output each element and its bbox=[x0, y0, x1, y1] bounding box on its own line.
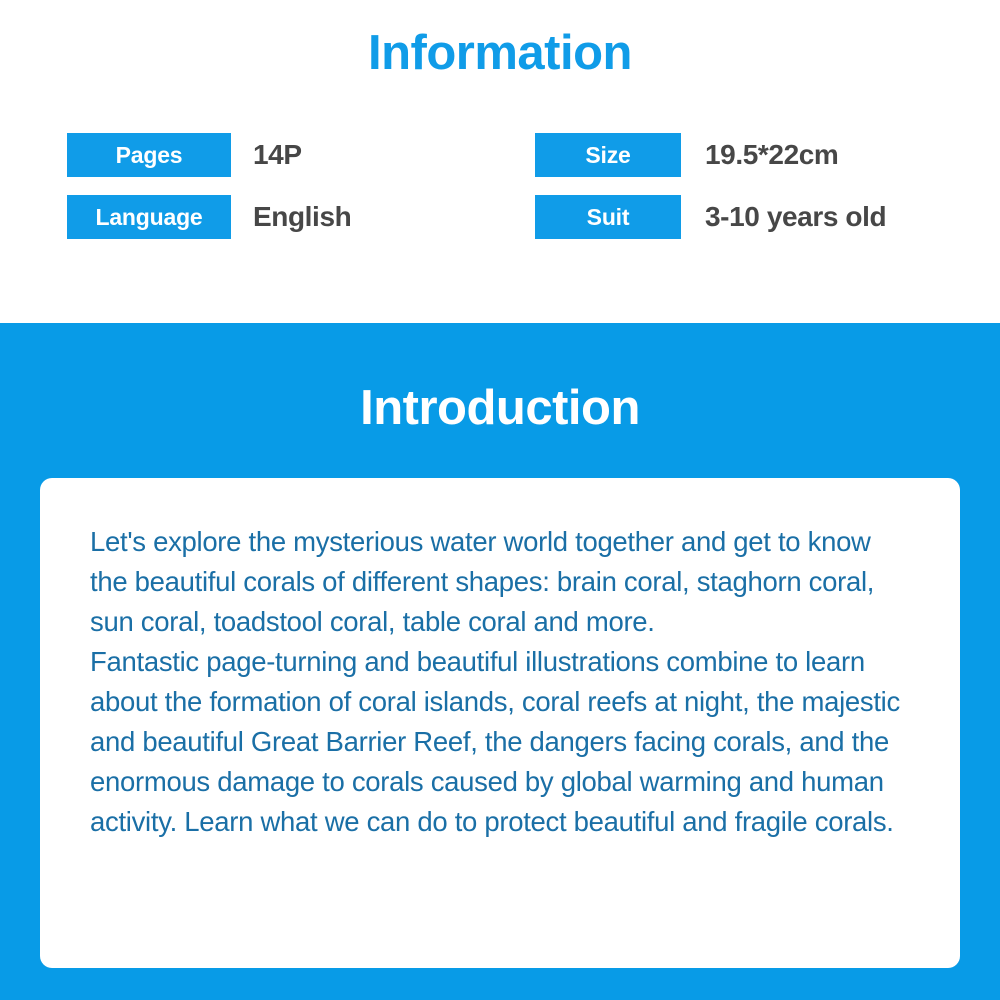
information-title: Information bbox=[0, 24, 1000, 83]
information-section: Information Pages 14P Language English S… bbox=[0, 0, 1000, 323]
spec-badge-size: Size bbox=[535, 133, 681, 177]
spec-badge-language: Language bbox=[67, 195, 231, 239]
introduction-card: Let's explore the mysterious water world… bbox=[40, 478, 960, 968]
spec-badge-pages: Pages bbox=[67, 133, 231, 177]
spec-column-right: Size 19.5*22cm Suit 3-10 years old bbox=[535, 133, 886, 257]
introduction-section: Introduction Let's explore the mysteriou… bbox=[0, 323, 1000, 1000]
spec-value-size: 19.5*22cm bbox=[705, 139, 838, 171]
spec-value-suit: 3-10 years old bbox=[705, 201, 886, 233]
spec-row-suit: Suit 3-10 years old bbox=[535, 195, 886, 239]
spec-badge-suit: Suit bbox=[535, 195, 681, 239]
spec-row-size: Size 19.5*22cm bbox=[535, 133, 886, 177]
spec-value-pages: 14P bbox=[253, 139, 302, 171]
introduction-body-text: Let's explore the mysterious water world… bbox=[90, 522, 910, 842]
introduction-title: Introduction bbox=[0, 379, 1000, 438]
spec-column-left: Pages 14P Language English bbox=[67, 133, 351, 257]
spec-value-language: English bbox=[253, 201, 351, 233]
specification-grid: Pages 14P Language English Size 19.5*22c… bbox=[0, 133, 1000, 263]
spec-row-language: Language English bbox=[67, 195, 351, 239]
spec-row-pages: Pages 14P bbox=[67, 133, 351, 177]
